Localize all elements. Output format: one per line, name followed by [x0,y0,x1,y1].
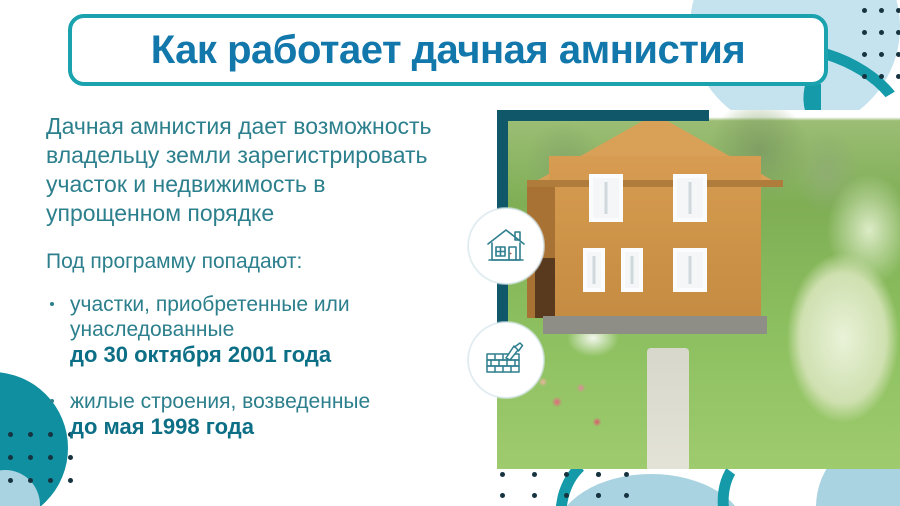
dot [500,493,505,498]
dot [896,30,900,35]
dot [48,478,53,483]
dot [564,472,569,477]
decorative-stem-title [810,84,821,110]
list-item-label: участки, приобретенные или унаследованны… [70,292,466,342]
dot [879,52,884,57]
dot [896,74,900,79]
house-window [583,248,605,292]
dot [862,30,867,35]
dot [68,478,73,483]
house-roof-edge [527,180,783,187]
dot [8,432,13,437]
house-window [673,248,707,292]
dot [500,472,505,477]
content-column: Дачная амнистия дает возможность владель… [46,112,466,460]
dot [862,8,867,13]
house-window [673,174,707,222]
dot [879,74,884,79]
dot [624,472,629,477]
dot [28,478,33,483]
dot [8,478,13,483]
brick-icon-badge [468,322,544,398]
title-banner: Как работает дачная амнистия [68,14,828,86]
brick-trowel-icon [484,340,528,380]
photo-house [497,110,900,469]
dot [8,455,13,460]
garden-path [647,348,689,469]
dot [862,52,867,57]
dot [896,52,900,57]
bullet-marker-icon [50,302,54,306]
dot [564,493,569,498]
infographic-poster: Как работает дачная амнистия Дачная амни… [0,0,900,506]
dot [896,8,900,13]
list-item: участки, приобретенные или унаследованны… [46,292,466,369]
house-window [589,174,623,222]
dot [532,493,537,498]
dot [879,8,884,13]
bullet-marker-icon [50,399,54,403]
house-icon [485,226,527,266]
dot [879,30,884,35]
photo-frame-bracket-top [497,110,709,121]
dot [596,493,601,498]
dot-grid-bottom-center-right [596,472,652,506]
list-item-label: жилые строения, возведенные [70,389,466,414]
dot [532,472,537,477]
dot [624,493,629,498]
house-door [535,258,555,318]
house-window [621,248,643,292]
intro-paragraph: Дачная амнистия дает возможность владель… [46,112,466,228]
list-item-deadline: до мая 1998 года [70,414,466,440]
dot [596,472,601,477]
dot [862,74,867,79]
dot [28,455,33,460]
house-icon-badge [468,208,544,284]
house-foundation [543,316,767,334]
list-item: жилые строения, возведенные до мая 1998 … [46,389,466,441]
page-title: Как работает дачная амнистия [151,28,745,73]
dot [28,432,33,437]
dot-grid-top-right [862,8,900,96]
eligibility-list: участки, приобретенные или унаследованны… [46,292,466,440]
list-item-deadline: до 30 октября 2001 года [70,342,466,368]
photo-background [497,110,900,469]
subheading: Под программу попадают: [46,250,466,274]
